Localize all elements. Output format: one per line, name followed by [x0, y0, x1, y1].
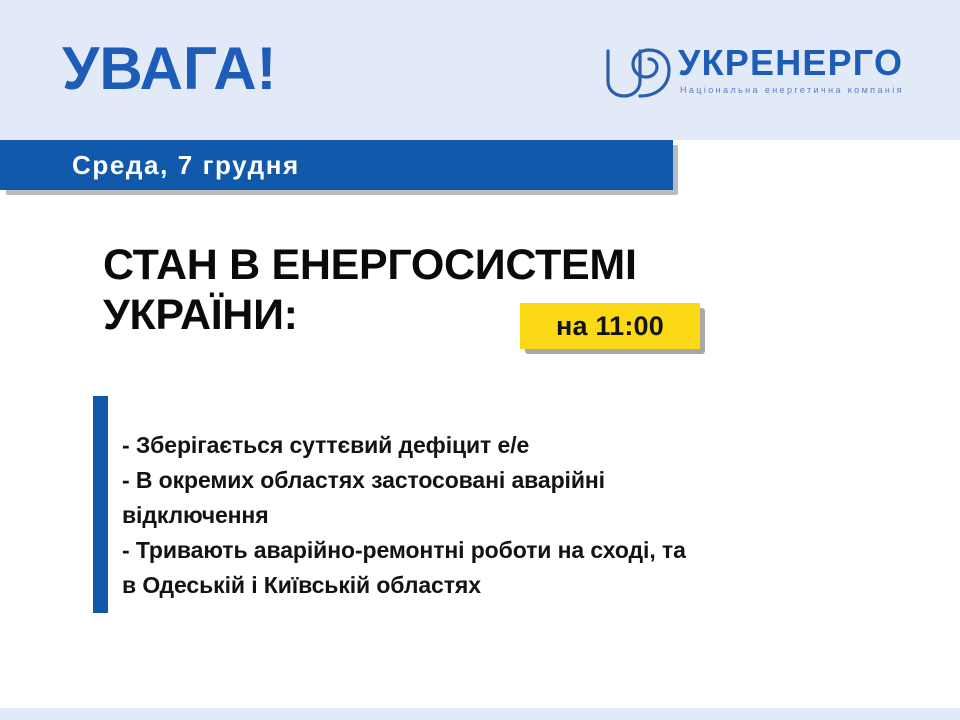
main-heading: СТАН В ЕНЕРГОСИСТЕМІ УКРАЇНИ:	[103, 240, 823, 340]
bullet-line: - В окремих областях застосовані аварійн…	[122, 463, 922, 498]
bullet-line: - Зберігається суттєвий дефіцит е/е	[122, 428, 922, 463]
ukrenergo-logo: УКРЕНЕРГО Національна енергетична компан…	[600, 43, 920, 105]
logo-wordmark: УКРЕНЕРГО	[678, 43, 903, 83]
slide-root: УВАГА! УКРЕНЕРГО Національна енергетична…	[0, 0, 960, 720]
main-heading-line-1: СТАН В ЕНЕРГОСИСТЕМІ	[103, 240, 823, 290]
time-badge: на 11:00	[520, 303, 700, 349]
page-title: УВАГА!	[62, 38, 277, 100]
bullet-line: - Тривають аварійно-ремонтні роботи на с…	[122, 533, 922, 568]
body-bullet-list: - Зберігається суттєвий дефіцит е/е - В …	[122, 428, 922, 603]
ukrenergo-monogram-icon	[600, 45, 674, 101]
logo-tagline: Національна енергетична компанія	[680, 85, 904, 96]
bullet-line: відключення	[122, 498, 922, 533]
bottom-strip	[0, 708, 960, 720]
date-bar: Среда, 7 грудня	[0, 140, 673, 190]
body-accent-bar	[93, 396, 108, 613]
date-label: Среда, 7 грудня	[72, 150, 300, 180]
main-heading-line-2: УКРАЇНИ:	[103, 290, 823, 340]
time-badge-label: на 11:00	[556, 311, 664, 341]
bullet-line: в Одеській і Київській областях	[122, 568, 922, 603]
